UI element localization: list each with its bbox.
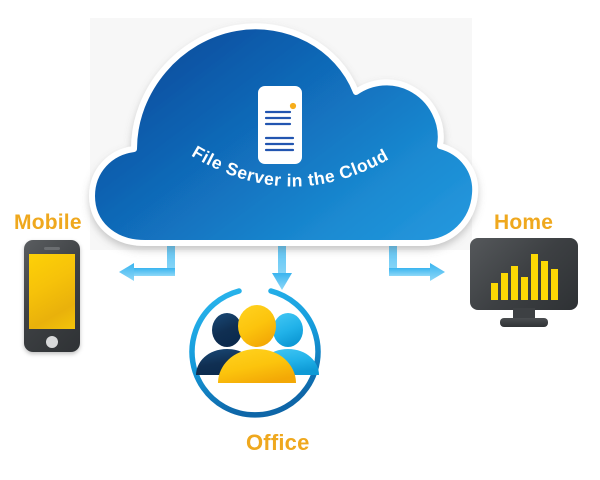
label-mobile: Mobile — [14, 211, 82, 235]
status-dot-icon — [290, 103, 296, 109]
chart-bar — [541, 261, 548, 300]
file-server-document-icon — [258, 86, 302, 164]
diagram-canvas: File Server in the Cloud — [0, 0, 600, 480]
label-office: Office — [246, 430, 310, 456]
phone-screen — [29, 254, 75, 329]
chart-bar — [521, 277, 528, 300]
chart-bar — [531, 254, 538, 300]
monitor-body — [470, 238, 578, 310]
desktop-monitor-icon[interactable] — [470, 238, 578, 330]
smartphone-icon[interactable] — [24, 240, 80, 352]
label-home: Home — [494, 211, 553, 235]
monitor-base — [500, 318, 548, 327]
chart-bar — [501, 273, 508, 300]
chart-bar — [551, 269, 558, 300]
chart-bar — [491, 283, 498, 300]
phone-speaker — [44, 247, 60, 250]
people-group-icon[interactable] — [192, 289, 319, 415]
chart-bar — [511, 266, 518, 300]
monitor-bar-chart — [488, 252, 560, 300]
phone-home-button[interactable] — [46, 336, 58, 348]
